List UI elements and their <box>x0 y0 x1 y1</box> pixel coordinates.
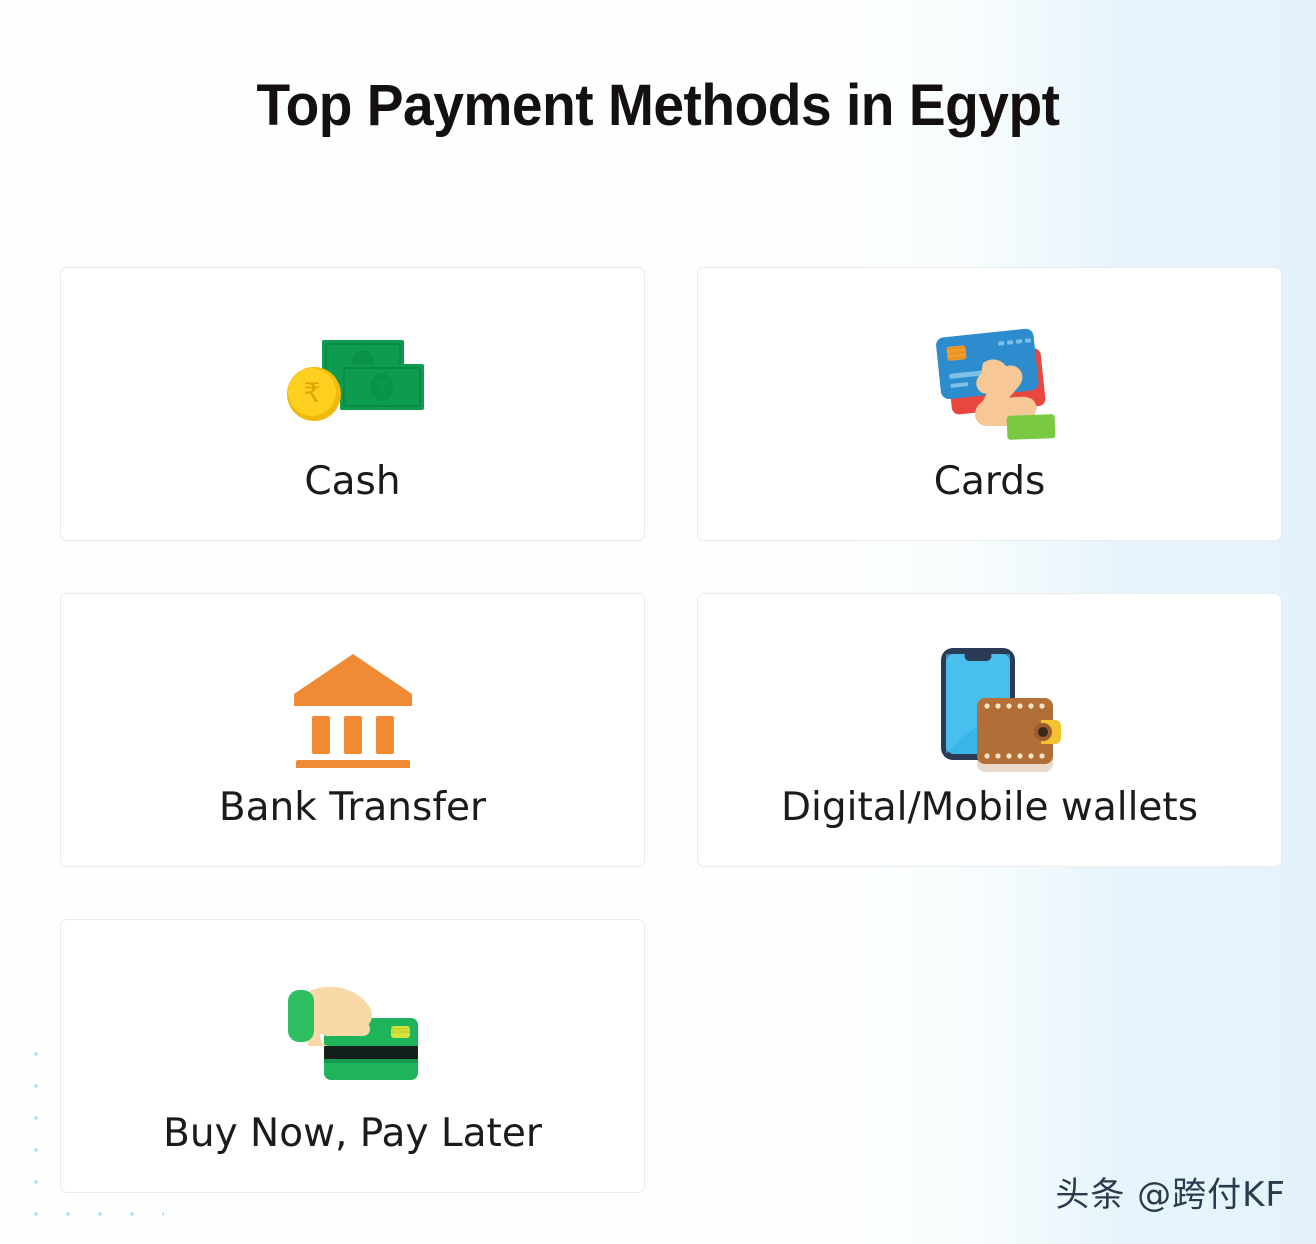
banknotes-coin-icon: ₹ ₹ <box>278 306 428 456</box>
payment-method-label: Cards <box>934 462 1046 501</box>
payment-method-label: Buy Now, Pay Later <box>163 1114 542 1153</box>
page-title: Top Payment Methods in Egypt <box>33 72 1283 139</box>
payment-methods-grid: ₹ ₹ Cash <box>60 267 1282 1193</box>
infographic-page: Top Payment Methods in Egypt ₹ ₹ Cash <box>0 0 1316 1244</box>
payment-method-card-bank-transfer[interactable]: Bank Transfer <box>60 593 645 867</box>
watermark-text: 头条 @跨付KF <box>1055 1167 1286 1216</box>
phone-wallet-icon <box>915 632 1065 782</box>
svg-text:₹: ₹ <box>303 378 320 409</box>
hand-holding-green-card-icon <box>278 958 428 1108</box>
svg-text:₹: ₹ <box>376 379 387 399</box>
payment-method-card-cards[interactable]: Cards <box>697 267 1282 541</box>
payment-method-label: Digital/Mobile wallets <box>781 788 1198 827</box>
payment-method-card-digital-wallets[interactable]: Digital/Mobile wallets <box>697 593 1282 867</box>
payment-method-card-cash[interactable]: ₹ ₹ Cash <box>60 267 645 541</box>
payment-method-label: Bank Transfer <box>219 788 486 827</box>
hand-holding-credit-card-icon <box>915 306 1065 456</box>
payment-method-card-bnpl[interactable]: Buy Now, Pay Later <box>60 919 645 1193</box>
bank-building-icon <box>288 632 418 782</box>
payment-method-label: Cash <box>304 462 400 501</box>
